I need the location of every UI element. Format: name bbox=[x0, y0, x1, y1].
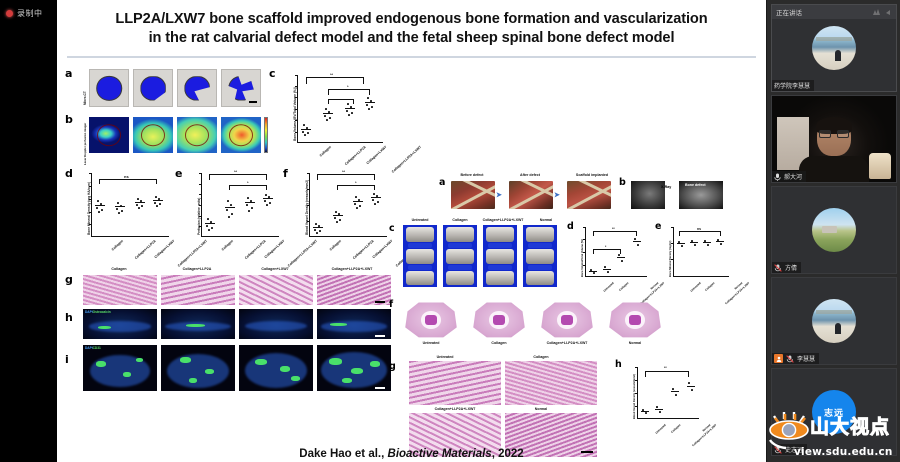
right-f-col-1: Untreated bbox=[407, 341, 455, 345]
signal-icon bbox=[872, 8, 881, 16]
fluorescence-image-i3 bbox=[239, 345, 313, 391]
xray-image-1 bbox=[631, 181, 665, 209]
panel-a-ylabel: Micro-CT bbox=[83, 92, 87, 106]
participant-footer-2: 方倩 bbox=[772, 262, 801, 273]
surgery-photo-before-defect bbox=[451, 181, 495, 209]
right-panel-label-a: a bbox=[439, 177, 445, 188]
sig-c-1: ** bbox=[330, 72, 333, 77]
right-a-cap-1: Before defect bbox=[447, 173, 497, 177]
right-d-xlabel-1: Untreated bbox=[602, 281, 614, 293]
participant-tile-0[interactable]: 正在讲话 药学院李慧慧 bbox=[771, 4, 897, 92]
panel-c-xlabel-3: Collagen+LXW7 bbox=[366, 145, 388, 165]
shared-screen-stage[interactable]: LLP2A/LXW7 bone scaffold improved endoge… bbox=[0, 0, 766, 462]
right-g-col-3: Collagen+LLP2A+LXW7 bbox=[403, 407, 507, 411]
microct-image-llp2a bbox=[133, 69, 173, 107]
right-panel-label-b: b bbox=[619, 177, 626, 188]
histology-image-g1 bbox=[83, 275, 157, 305]
host-badge-icon bbox=[774, 354, 783, 363]
laser-doppler-image-llp2a bbox=[133, 117, 173, 153]
right-d-xlabel-2: Collagen bbox=[618, 281, 629, 292]
stain-dapi-label-i: DAPI bbox=[85, 346, 93, 350]
right-e-xlabel-1: Untreated bbox=[689, 281, 701, 293]
panel-f-ylabel: Blood Vessel Density (vessels/mm2) bbox=[305, 180, 309, 235]
surgery-photo-after-defect bbox=[509, 181, 553, 209]
panel-label-e: e bbox=[175, 167, 182, 180]
spine-ct-collagen bbox=[443, 225, 477, 287]
presentation-slide: LLP2A/LXW7 bone scaffold improved endoge… bbox=[57, 0, 766, 462]
right-e-xlabel-2: Collagen bbox=[704, 281, 715, 292]
sig-rd-2: * bbox=[605, 245, 606, 249]
recording-label: 录制中 bbox=[17, 8, 43, 19]
tile-header-icons[interactable] bbox=[872, 8, 892, 16]
page-title: LLP2A/LXW7 bone scaffold improved endoge… bbox=[57, 0, 766, 51]
right-panel-label-f: f bbox=[389, 299, 393, 310]
cross-section-normal bbox=[607, 299, 663, 339]
cross-section-collagen bbox=[471, 299, 527, 339]
right-figure: a Before defect After defect Scaffold im… bbox=[387, 101, 717, 451]
right-panel-label-g: g bbox=[389, 361, 396, 372]
panel-f-xlabel-1: Collagen bbox=[329, 239, 342, 252]
panel-c-xlabel-2: Collagen+LLP2A bbox=[344, 145, 367, 166]
participant-tile-3[interactable]: 李慧慧 bbox=[771, 277, 897, 365]
chart-panel-e: Perfusion (relative units) ** * bbox=[201, 173, 279, 247]
right-a-cap-3: Scaffold implanted bbox=[563, 173, 621, 177]
video-feed bbox=[772, 96, 896, 182]
right-b-cap-2: Bone defect bbox=[685, 183, 706, 187]
sig-f-1: ** bbox=[342, 169, 345, 174]
panel-d-xlabel-3: Collagen+LXW7 bbox=[154, 239, 176, 259]
fluorescence-image-i2 bbox=[161, 345, 235, 391]
panel-e-xlabel-2: Collagen+LLP2A bbox=[244, 239, 267, 260]
histology-right-g1 bbox=[409, 361, 501, 405]
stain-cd31-label: CD31 bbox=[93, 346, 101, 350]
participant-tile-2[interactable]: 方倩 bbox=[771, 186, 897, 274]
speaking-status-label: 正在讲话 bbox=[776, 7, 802, 17]
participant-name-2: 方倩 bbox=[785, 263, 797, 272]
panel-g-col-3: Collagen+LXW7 bbox=[237, 267, 313, 271]
right-d-ylabel: Bone Volume/Total Volume (%) bbox=[581, 240, 584, 278]
chart-panel-c: Bone Volume (BV/Total Volume (%)) ** * bbox=[297, 75, 383, 153]
sig-re-1: ns bbox=[697, 227, 701, 231]
left-figure: a Micro-CT b Laser Doppler perfusion ima… bbox=[61, 61, 401, 451]
fluorescence-image-h2 bbox=[161, 309, 235, 339]
sig-d-1: ns bbox=[124, 174, 129, 179]
panel-label-c: c bbox=[269, 67, 276, 80]
right-panel-label-d: d bbox=[567, 221, 574, 232]
microphone-icon bbox=[774, 173, 781, 181]
right-c-col-3: Collagen+LLP2A+LXW7 bbox=[479, 218, 527, 222]
panel-g-col-1: Collagen bbox=[81, 267, 157, 271]
meeting-screen-share-window: 录制中 LLP2A/LXW7 bone scaffold improved en… bbox=[0, 0, 900, 462]
scale-bar-i bbox=[375, 387, 385, 388]
scale-bar-h bbox=[375, 335, 385, 336]
right-h-xlabel-2: Collagen bbox=[670, 423, 681, 434]
right-e-ylabel: Bone Mineral Density (mg/cc) bbox=[669, 241, 672, 277]
panel-label-a: a bbox=[65, 67, 72, 80]
panel-c-ylabel: Bone Volume (BV/Total Volume (%)) bbox=[293, 88, 297, 142]
right-c-col-4: Normal bbox=[527, 218, 565, 222]
right-h-xlabel-1: Untreated bbox=[654, 423, 666, 435]
fluorescence-image-h3 bbox=[239, 309, 313, 339]
microphone-muted-icon bbox=[786, 355, 794, 363]
surgery-photo-scaffold-implanted bbox=[567, 181, 611, 209]
stain-legend-h: DAPIOsteocalcin bbox=[85, 310, 111, 314]
stain-osteocalcin-label: Osteocalcin bbox=[93, 310, 111, 314]
sig-c-2: * bbox=[347, 84, 349, 89]
right-f-col-3: Collagen+LLP2A+LXW7 bbox=[537, 341, 597, 345]
figure-area: a Micro-CT b Laser Doppler perfusion ima… bbox=[57, 61, 766, 451]
participant-name-1: 郝大河 bbox=[784, 172, 802, 181]
histology-image-g2 bbox=[161, 275, 235, 305]
scale-bar-a bbox=[249, 101, 257, 102]
microphone-muted-icon bbox=[774, 264, 782, 272]
panel-e-ylabel: Perfusion (relative units) bbox=[197, 198, 201, 235]
panel-label-f: f bbox=[283, 167, 288, 180]
panel-label-h: h bbox=[65, 311, 73, 324]
sig-e-1: ** bbox=[234, 169, 237, 174]
slide-title-line1: LLP2A/LXW7 bone scaffold improved endoge… bbox=[71, 10, 752, 29]
sig-rh-1: ** bbox=[664, 366, 667, 370]
stain-dapi-label: DAPI bbox=[85, 310, 93, 314]
fluorescence-image-i1 bbox=[83, 345, 157, 391]
slide-citation: Dake Hao et al., Bioactive Materials, 20… bbox=[57, 448, 766, 460]
sig-rd-1: ** bbox=[612, 227, 615, 231]
right-f-col-2: Collagen bbox=[475, 341, 523, 345]
avatar: 志远 bbox=[812, 390, 856, 434]
panel-label-b: b bbox=[65, 113, 73, 126]
recording-indicator: 录制中 bbox=[6, 8, 43, 19]
chart-right-panel-e: Bone Mineral Density (mg/cc) ns Untreate… bbox=[673, 227, 729, 287]
citation-journal: Bioactive Materials bbox=[388, 448, 492, 460]
avatar-initials: 志远 bbox=[824, 406, 844, 419]
panel-g-col-4: Collagen+LLP2A+LXW7 bbox=[311, 267, 393, 271]
spine-ct-untreated bbox=[403, 225, 437, 287]
panel-d-xlabel-2: Collagen+LLP2A bbox=[134, 239, 157, 260]
histology-right-g2 bbox=[505, 361, 597, 405]
spine-ct-normal bbox=[523, 225, 557, 287]
histology-image-g3 bbox=[239, 275, 313, 305]
avatar bbox=[812, 26, 856, 70]
panel-f-xlabel-2: Collagen+LLP2A bbox=[352, 239, 375, 260]
avatar bbox=[812, 208, 856, 252]
panel-label-i: i bbox=[65, 353, 69, 366]
participants-sidebar[interactable]: 正在讲话 药学院李慧慧 bbox=[766, 0, 900, 462]
avatar bbox=[812, 299, 856, 343]
reply-arrow-icon bbox=[884, 8, 892, 16]
microct-image-lxw7 bbox=[177, 69, 217, 107]
right-g-col-1: Untreated bbox=[409, 355, 481, 359]
right-g-col-2: Collagen bbox=[505, 355, 577, 359]
panel-label-d: d bbox=[65, 167, 73, 180]
panel-b-ylabel: Laser Doppler perfusion imager bbox=[83, 123, 87, 165]
laser-doppler-image-combo bbox=[221, 117, 261, 153]
citation-year: , 2022 bbox=[492, 448, 524, 460]
panel-g-col-2: Collagen+LLP2A bbox=[159, 267, 235, 271]
right-c-col-1: Untreated bbox=[401, 218, 439, 222]
stain-legend-i: DAPICD31 bbox=[85, 346, 101, 350]
laser-doppler-image-lxw7 bbox=[177, 117, 217, 153]
slide-title-line2: in the rat calvarial defect model and th… bbox=[71, 29, 752, 48]
microphone-muted-icon bbox=[774, 446, 782, 454]
sig-f-2: * bbox=[355, 180, 357, 185]
right-g-col-4: Normal bbox=[505, 407, 577, 411]
participant-footer-0: 药学院李慧慧 bbox=[772, 80, 814, 91]
chart-panel-d: Bone Mineral Density (mg HA/ccm) ns bbox=[91, 173, 169, 247]
right-panel-label-c: c bbox=[389, 223, 395, 234]
chart-right-panel-d: Bone Volume/Total Volume (%) ** * bbox=[585, 227, 647, 287]
panel-e-xlabel-1: Collagen bbox=[221, 239, 234, 252]
scale-bar-g bbox=[375, 301, 385, 302]
citation-authors: Dake Hao et al., bbox=[299, 448, 384, 460]
panel-d-ylabel: Bone Mineral Density (mg HA/ccm) bbox=[87, 182, 91, 235]
panel-d-xlabel-1: Collagen bbox=[111, 239, 124, 252]
microct-image-collagen bbox=[89, 69, 129, 107]
colorbar-legend bbox=[264, 117, 268, 153]
right-c-col-2: Collagen bbox=[441, 218, 479, 222]
participant-name-0: 药学院李慧慧 bbox=[774, 81, 810, 90]
arrow-right-icon-1: ➤ bbox=[496, 191, 502, 199]
sig-e-2: * bbox=[247, 180, 249, 185]
participant-footer-3: 李慧慧 bbox=[772, 353, 819, 364]
title-divider bbox=[67, 56, 756, 58]
right-h-ylabel: Blood Vessel Density (vessels/mm2) bbox=[633, 375, 636, 420]
panel-e-xlabel-3: Collagen+LXW7 bbox=[264, 239, 286, 259]
speaking-status-bar: 正在讲话 bbox=[772, 5, 896, 19]
participant-tile-4[interactable]: 志远 史志远 bbox=[771, 368, 897, 456]
chart-panel-f: Blood Vessel Density (vessels/mm2) ** * bbox=[309, 173, 387, 247]
spine-ct-combo bbox=[483, 225, 517, 287]
right-panel-label-h: h bbox=[615, 359, 622, 370]
chart-right-panel-h: Blood Vessel Density (vessels/mm2) ** Un… bbox=[637, 367, 699, 429]
arrow-right-icon-2: ➤ bbox=[554, 191, 560, 199]
participant-tile-1[interactable]: 郝大河 bbox=[771, 95, 897, 183]
right-a-cap-2: After defect bbox=[505, 173, 555, 177]
panel-c-xlabel-1: Collagen bbox=[319, 145, 332, 158]
laser-doppler-image-collagen bbox=[89, 117, 129, 153]
right-panel-label-e: e bbox=[655, 221, 661, 232]
recording-dot-icon bbox=[6, 10, 13, 17]
panel-label-g: g bbox=[65, 273, 73, 286]
right-b-cap-1: X-Ray bbox=[661, 185, 671, 189]
participant-name-4: 史志远 bbox=[785, 445, 803, 454]
participant-name-3: 李慧慧 bbox=[797, 354, 815, 363]
participant-footer-4: 史志远 bbox=[772, 444, 807, 455]
cross-section-untreated bbox=[403, 299, 459, 339]
participant-footer-1: 郝大河 bbox=[772, 171, 806, 182]
right-f-col-4: Normal bbox=[611, 341, 659, 345]
fluorescence-image-i4 bbox=[317, 345, 391, 391]
cross-section-combo bbox=[539, 299, 595, 339]
